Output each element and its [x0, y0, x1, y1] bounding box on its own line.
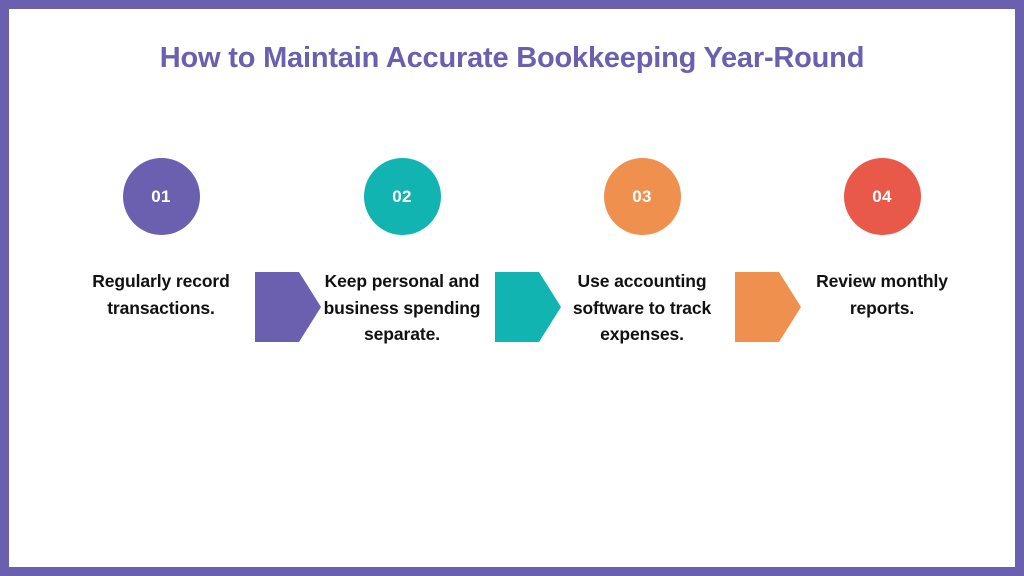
- page-title: How to Maintain Accurate Bookkeeping Yea…: [9, 42, 1015, 75]
- step-description-04: Review monthly reports.: [782, 268, 982, 321]
- step-item-02: 02 Keep personal and business spending s…: [302, 149, 502, 348]
- step-number-01: 01: [151, 187, 171, 207]
- process-flow: 01 Regularly record transactions. 02 Kee…: [9, 149, 1015, 449]
- step-item-03: 03 Use accounting software to track expe…: [542, 149, 742, 348]
- step-description-01: Regularly record transactions.: [61, 268, 261, 321]
- step-badge-01: 01: [123, 158, 200, 235]
- step-badge-03: 03: [604, 158, 681, 235]
- step-badge-02: 02: [364, 158, 441, 235]
- step-item-04: 04 Review monthly reports.: [782, 149, 982, 321]
- step-badge-04: 04: [844, 158, 921, 235]
- step-number-02: 02: [392, 187, 412, 207]
- step-number-03: 03: [632, 187, 652, 207]
- step-number-04: 04: [872, 187, 892, 207]
- step-description-02: Keep personal and business spending sepa…: [302, 268, 502, 348]
- step-item-01: 01 Regularly record transactions.: [61, 149, 261, 321]
- step-description-03: Use accounting software to track expense…: [542, 268, 742, 348]
- infographic-canvas: How to Maintain Accurate Bookkeeping Yea…: [9, 9, 1015, 567]
